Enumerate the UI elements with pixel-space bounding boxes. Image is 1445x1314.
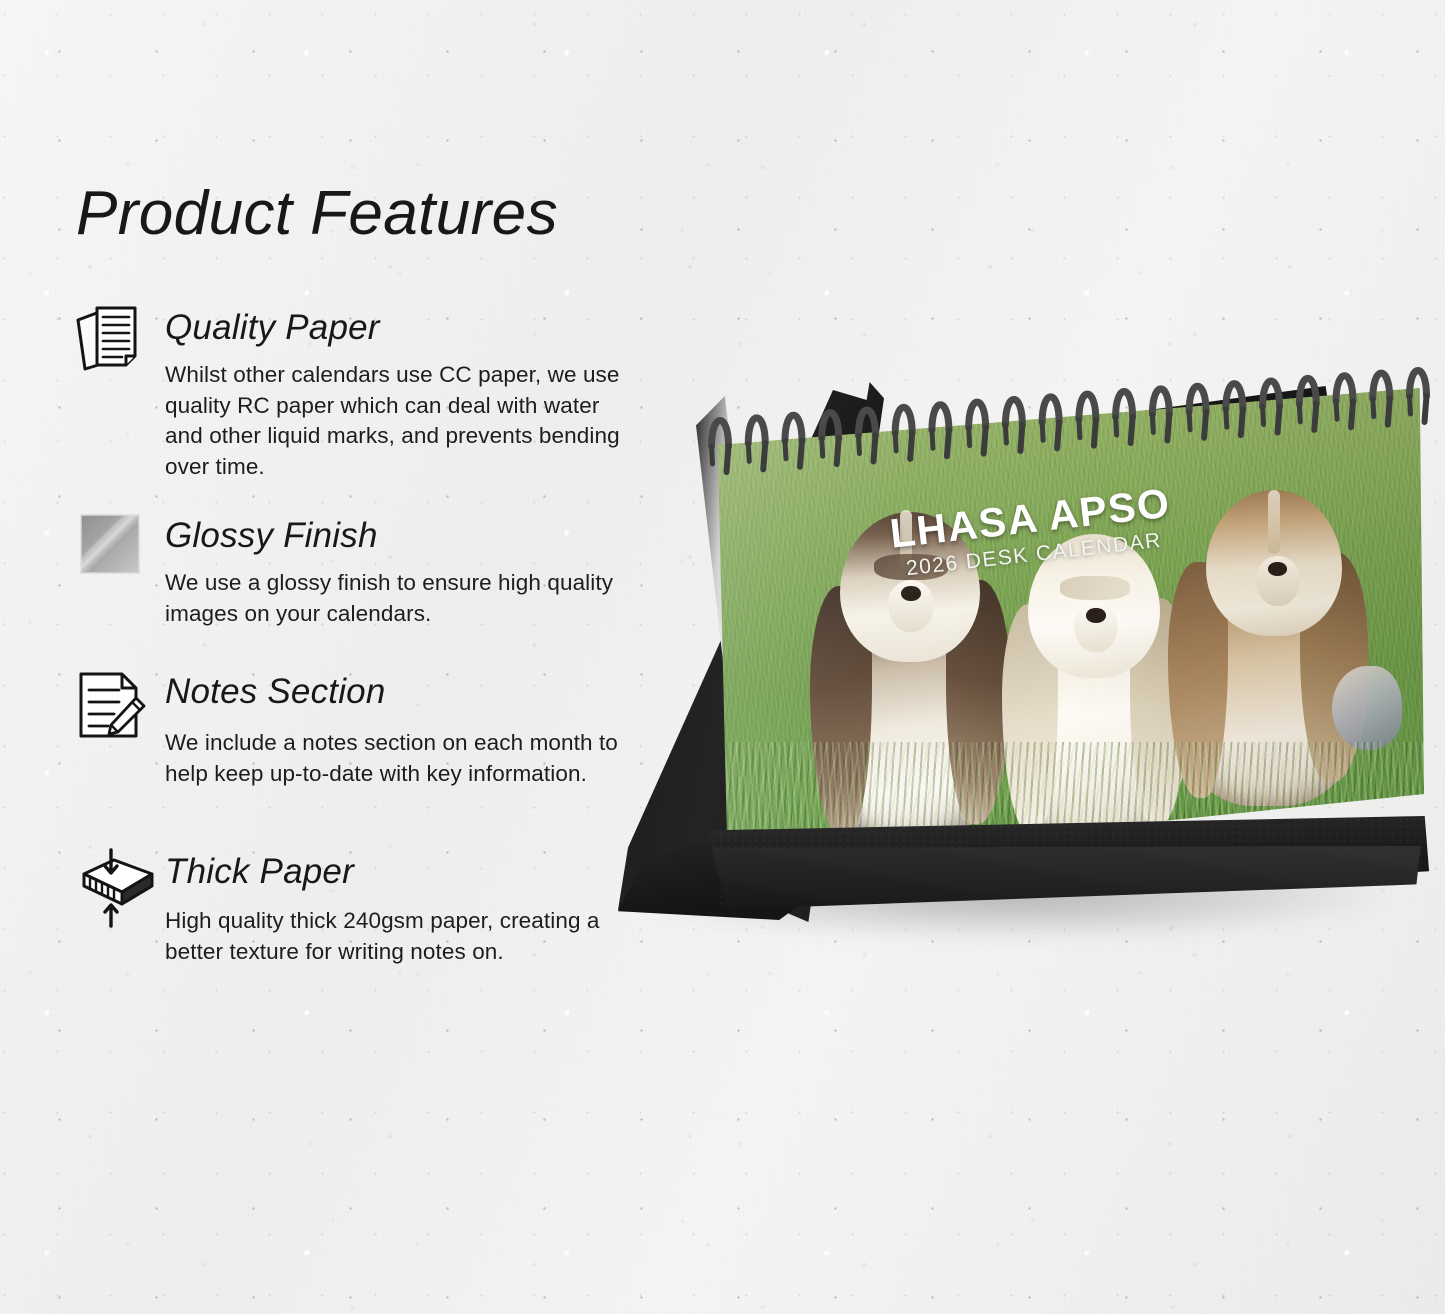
feature-heading: Quality Paper [165, 308, 380, 348]
note-pencil-icon [74, 666, 150, 744]
feature-body: High quality thick 240gsm paper, creatin… [165, 906, 633, 967]
feature-heading: Thick Paper [165, 852, 354, 892]
page-title: Product Features [76, 178, 558, 249]
feature-body: We include a notes section on each month… [165, 728, 633, 789]
feature-body: Whilst other calendars use CC paper, we … [165, 360, 633, 482]
paper-thickness-icon [66, 848, 158, 928]
desk-calendar-product: LHASA APSO 2026 DESK CALENDAR [600, 330, 1430, 1010]
feature-heading: Glossy Finish [165, 516, 378, 556]
stacked-paper-icon [72, 300, 150, 378]
wire-spiral-binding [692, 338, 1432, 478]
feature-heading: Notes Section [165, 672, 386, 712]
glossy-swatch-icon [76, 510, 144, 578]
feature-body: We use a glossy finish to ensure high qu… [165, 568, 633, 629]
